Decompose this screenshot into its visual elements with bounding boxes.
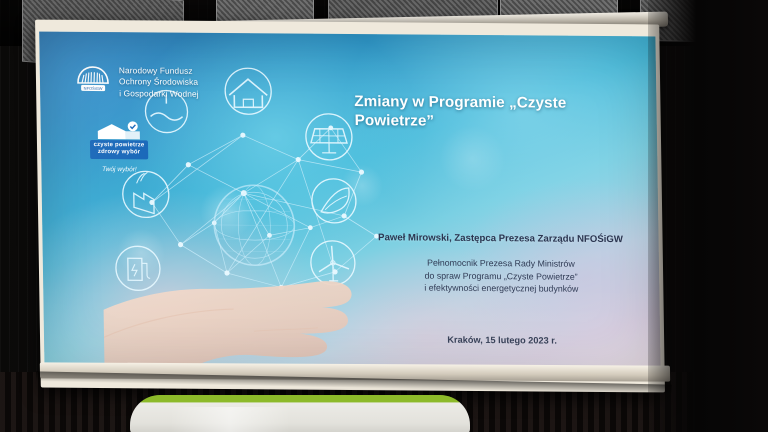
chair: [130, 395, 470, 432]
nfosigw-line-2: Ochrony Środowiska: [119, 76, 199, 87]
nfosigw-line-1: Narodowy Fundusz: [119, 65, 199, 76]
solar-panel-icon: [306, 114, 353, 160]
right-curtain: [648, 0, 768, 432]
industry-icon: [122, 171, 169, 217]
screenshot-stage: NFOŚiGW Narodowy Fundusz Ochrony Środowi…: [0, 0, 768, 432]
nfosigw-wordmark: Narodowy Fundusz Ochrony Środowiska i Go…: [119, 65, 199, 99]
svg-text:NFOŚiGW: NFOŚiGW: [84, 86, 103, 91]
leaf-icon: [312, 179, 357, 223]
logo-czyste-powietrze: czyste powietrze zdrowy wybór Twój wybór…: [73, 120, 166, 174]
slide-title: Zmiany w Programie „Czyste Powietrze”: [354, 92, 641, 132]
speaker-line: Paweł Mirowski, Zastępca Prezesa Zarządu…: [342, 231, 658, 246]
role-line-3: i efektywności energetycznej budynków: [343, 281, 659, 296]
house-icon: [225, 68, 272, 114]
nfosigw-line-3: i Gospodarki Wodnej: [119, 88, 199, 99]
projector-screen: NFOŚiGW Narodowy Fundusz Ochrony Środowi…: [35, 20, 665, 393]
czyste-powietrze-tagline: Twój wybór!: [73, 166, 165, 174]
logo-nfosigw: NFOŚiGW Narodowy Fundusz Ochrony Środowi…: [76, 64, 199, 99]
chair-highlight: [170, 407, 290, 432]
nfosigw-emblem-icon: NFOŚiGW: [76, 64, 111, 98]
czyste-powietrze-line-2: zdrowy wybór: [94, 149, 145, 156]
presentation-slide: NFOŚiGW Narodowy Fundusz Ochrony Środowi…: [39, 32, 661, 381]
czyste-powietrze-badge: czyste powietrze zdrowy wybór: [89, 140, 148, 159]
speaker-role-block: Pełnomocnik Prezesa Rady Ministrów do sp…: [343, 256, 660, 296]
